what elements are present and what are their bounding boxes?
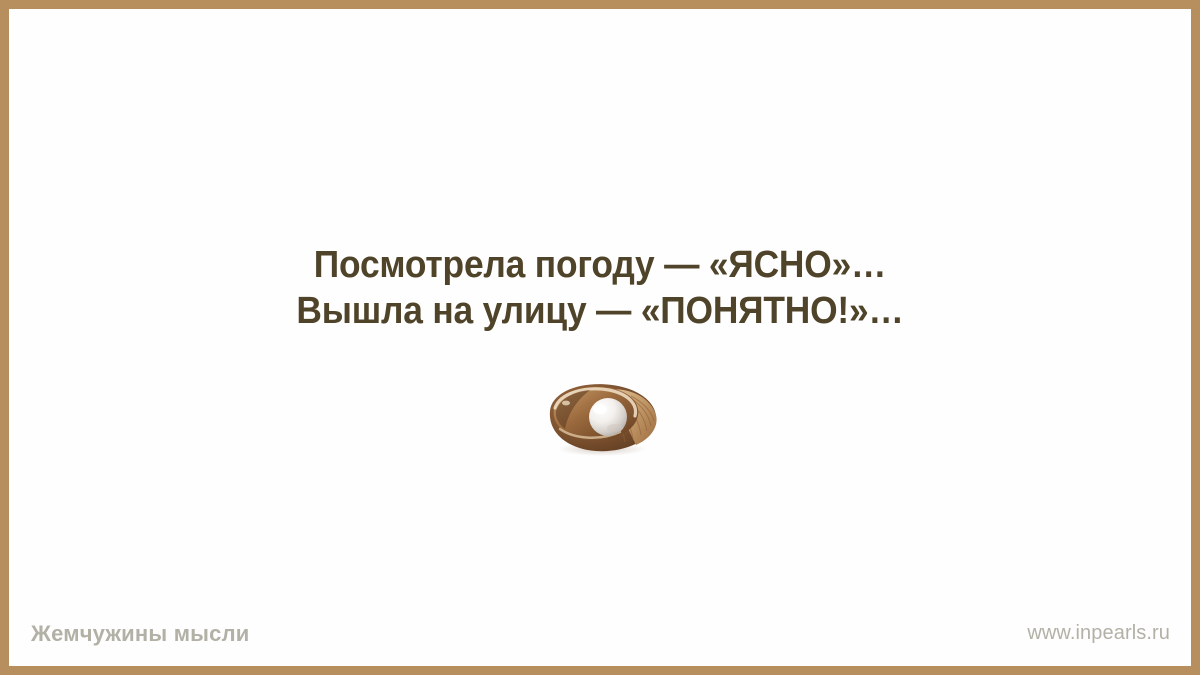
quote-line-1: Посмотрела погоду — «ЯСНО»… — [50, 242, 1149, 288]
footer: Жемчужины мысли www.inpearls.ru — [9, 608, 1191, 666]
oyster-shell-with-pearl-icon — [538, 377, 662, 457]
quote-line-2: Вышла на улицу — «ПОНЯТНО!»… — [50, 288, 1149, 334]
site-url-label[interactable]: www.inpearls.ru — [1027, 622, 1170, 645]
quote-text-block: Посмотрела погоду — «ЯСНО»… Вышла на ули… — [9, 242, 1191, 334]
brand-label: Жемчужины мысли — [31, 621, 250, 647]
quote-card: Посмотрела погоду — «ЯСНО»… Вышла на ули… — [0, 0, 1200, 675]
